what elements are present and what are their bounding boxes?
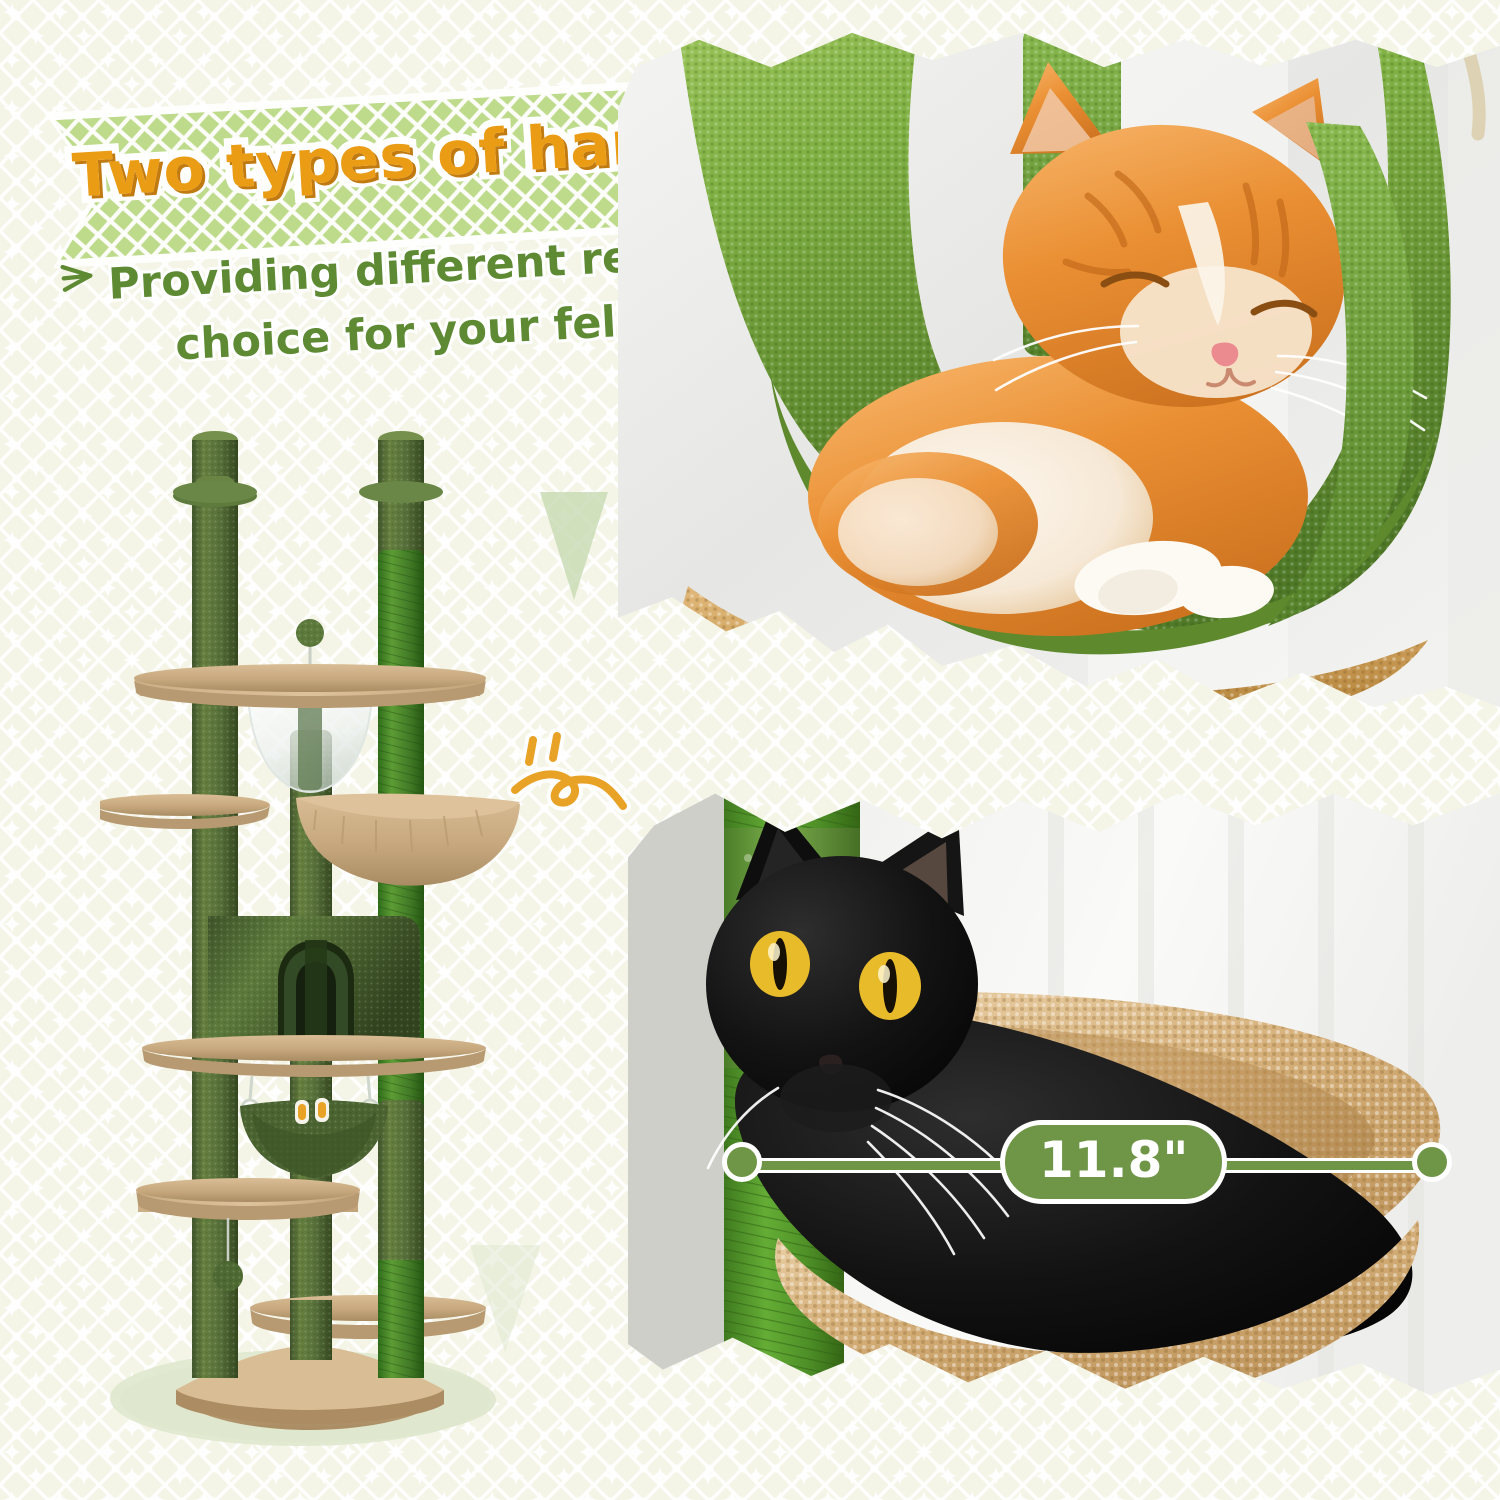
post-left: [173, 431, 257, 1376]
doodle-squiggle-icon: [505, 728, 645, 828]
platform-upper: [134, 664, 486, 792]
platform-step: [250, 1295, 486, 1339]
platform-lower: [136, 1178, 360, 1220]
condo-house: [208, 916, 420, 1040]
platform-side-left: [100, 794, 270, 829]
post-right: [359, 431, 443, 1376]
sparkle-mark-icon: [56, 256, 98, 298]
photo-orange-cat-in-green-hammock: [618, 26, 1500, 714]
product-illustration-cat-tree: [100, 400, 520, 1460]
measurement-endpoint-right: [1412, 1142, 1452, 1182]
photo-black-cat-in-tan-bowl: [628, 768, 1500, 1408]
measurement-endpoint-left: [722, 1142, 762, 1182]
infographic-canvas: Two types of hammock Two types of hammoc…: [0, 0, 1500, 1500]
platform-mid: [142, 1035, 486, 1077]
measurement-badge: 11.8": [1000, 1120, 1227, 1204]
